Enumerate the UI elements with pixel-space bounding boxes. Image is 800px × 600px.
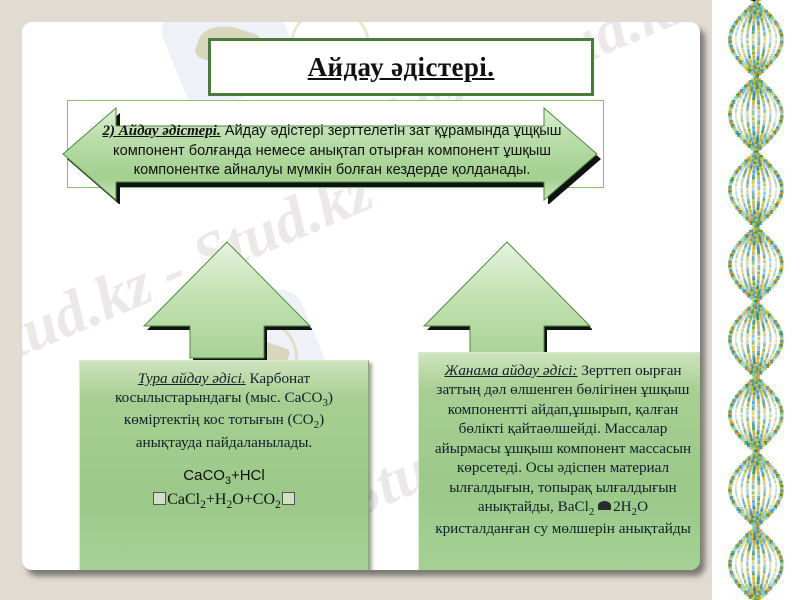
up-arrow-left bbox=[142, 240, 312, 360]
dna-helix-svg bbox=[712, 0, 800, 600]
method-box-indirect: Жанама айдау әдісі: Зерттеп оырған затты… bbox=[418, 352, 700, 570]
missing-glyph-icon bbox=[153, 492, 166, 505]
banner-callout: 2) Айдау әдістері. Айдау әдістері зертте… bbox=[30, 100, 630, 210]
slide-panel: Stud.kz - Stud.kz Stud.kz - Stud.kz Stud… bbox=[22, 22, 700, 570]
missing-glyph-icon bbox=[598, 501, 611, 510]
missing-glyph-icon bbox=[282, 492, 295, 505]
method-box-direct-text: Тура айдау әдісі. Карбонат косылыстарынд… bbox=[90, 369, 358, 452]
formula-block: CaCO3+HCl CaCl2+H2O+CO2 bbox=[90, 466, 358, 513]
slide-title-box: Айдау әдістері. bbox=[208, 38, 594, 96]
formula-line-2: CaCl2+H2O+CO2 bbox=[90, 489, 358, 514]
up-arrow-right bbox=[422, 240, 592, 360]
dna-helix-image bbox=[712, 0, 800, 600]
method-box-indirect-body: Зерттеп оырған заттың дәл өлшенген бөліг… bbox=[435, 362, 691, 537]
method-box-indirect-lead: Жанама айдау әдісі: bbox=[444, 362, 577, 379]
page-title: Айдау әдістері. bbox=[308, 52, 495, 83]
method-box-indirect-text: Жанама айдау әдісі: Зерттеп оырған затты… bbox=[429, 361, 697, 539]
banner-text: 2) Айдау әдістері. Айдау әдістері зертте… bbox=[82, 122, 582, 181]
formula-line-1: CaCO3+HCl bbox=[90, 466, 358, 489]
method-box-direct-lead: Тура айдау әдісі. bbox=[138, 370, 246, 387]
banner-lead: 2) Айдау әдістері. bbox=[103, 123, 221, 139]
slide-stage: Stud.kz - Stud.kz Stud.kz - Stud.kz Stud… bbox=[0, 0, 800, 600]
method-box-direct: Тура айдау әдісі. Карбонат косылыстарынд… bbox=[79, 360, 369, 570]
